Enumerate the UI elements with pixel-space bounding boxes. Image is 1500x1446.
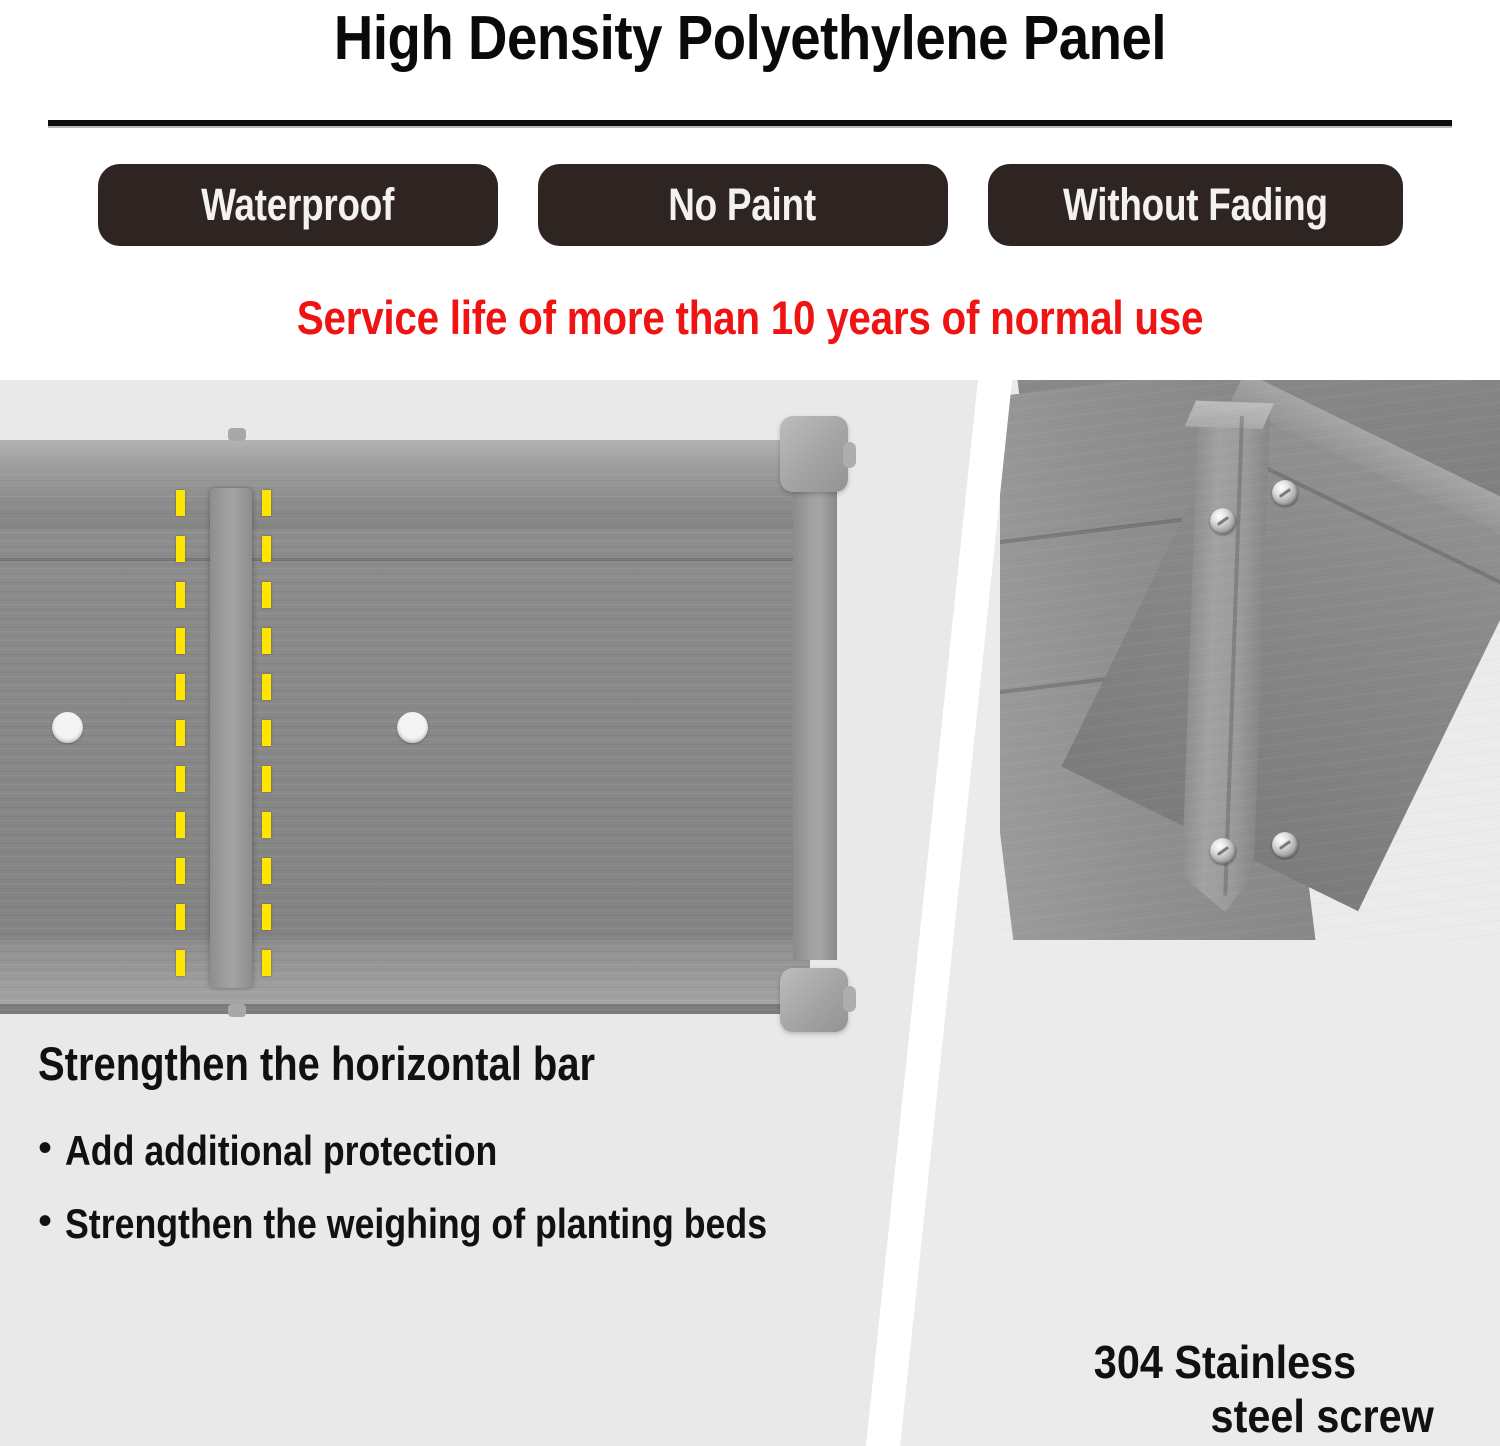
planter-corner-post [793,480,837,960]
right-panel-heading: 304 Stainless steel screw [1000,1335,1450,1443]
crossbar-tab-bottom [228,1004,246,1017]
title-divider-rule [48,120,1452,126]
corner-cap-knob-top [843,442,856,468]
horizontal-bar-product-photo [0,380,1000,1446]
planter-top-rail [0,468,810,530]
crossbar-tab-top [228,428,246,441]
header-section: High Density Polyethylene Panel Waterpro… [0,0,1500,380]
horizontal-bar-crossbar [210,488,252,988]
yellow-dashed-marker-left [176,490,185,990]
planter-top-cap [0,440,810,470]
planter-bottom-rail [0,940,810,1008]
corner-post-cap-top [780,416,848,492]
stainless-screw-icon [1272,832,1298,858]
planter-panel-seam [0,558,810,561]
stainless-screw-icon [1272,480,1298,506]
corner-cap-knob-bottom [843,986,856,1012]
feature-badge-no-paint: No Paint [538,164,948,246]
left-panel-bullet-label: Add additional protection [65,1123,790,1178]
planter-inner-panel [0,530,810,985]
left-feature-panel: Strengthen the horizontal bar • Add addi… [0,380,1000,1446]
stainless-screw-icon [1210,838,1236,864]
left-panel-bullet-item: • Strengthen the weighing of planting be… [38,1196,918,1251]
bullet-dot-icon: • [38,1196,52,1246]
feature-badge-label: Waterproof [201,180,394,230]
service-life-statement: Service life of more than 10 years of no… [105,290,1395,346]
bullet-dot-icon: • [38,1123,52,1173]
drain-hole [52,712,83,743]
left-panel-heading: Strengthen the horizontal bar [38,1035,786,1093]
feature-badge-waterproof: Waterproof [98,164,498,246]
stainless-screw-icon [1210,508,1236,534]
corner-post-cap-bottom [780,968,848,1032]
right-panel-text-block: 304 Stainless steel screw • Sturdy and d… [975,1335,1475,1446]
feature-badge-without-fading: Without Fading [988,164,1403,246]
stainless-screw-product-photo [1000,380,1500,940]
page-title: High Density Polyethylene Panel [90,2,1410,76]
left-panel-bullet-label: Strengthen the weighing of planting beds [65,1196,790,1251]
feature-badge-row: Waterproof No Paint Without Fading [0,155,1500,255]
planter-bottom-cap [0,1004,810,1014]
left-panel-text-block: Strengthen the horizontal bar • Add addi… [38,1035,918,1269]
left-panel-bullet-item: • Add additional protection [38,1123,918,1178]
corner-post-top-face [1185,401,1274,429]
right-panel-heading-line2: steel screw [1000,1389,1450,1443]
feature-badge-label: No Paint [669,180,817,230]
feature-badge-label: Without Fading [1063,180,1328,230]
drain-hole [397,712,428,743]
right-panel-heading-line1: 304 Stainless [1000,1335,1450,1389]
feature-panels-section: Strengthen the horizontal bar • Add addi… [0,380,1500,1446]
yellow-dashed-marker-right [262,490,271,990]
